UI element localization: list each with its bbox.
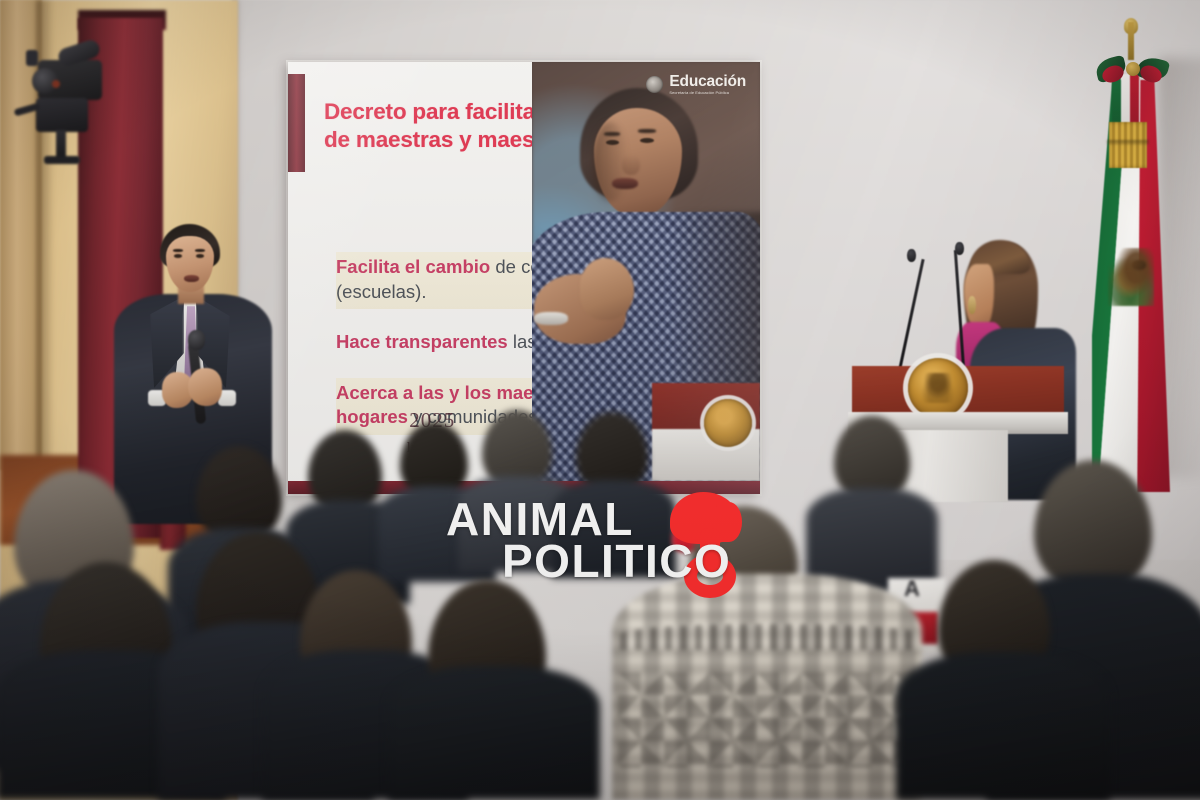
educacion-logo-text: Educación Secretaría de Educación Públic… bbox=[669, 74, 746, 95]
photo-subject-brow-right bbox=[638, 129, 656, 133]
educacion-logo-subtitle: Secretaría de Educación Pública bbox=[669, 91, 746, 95]
audience-body bbox=[896, 652, 1110, 800]
slide-bullet-bold: Facilita el cambio bbox=[336, 256, 490, 277]
slide-bullet-bold: Hace transparentes bbox=[336, 331, 508, 352]
gold-tassel-icon bbox=[1109, 122, 1147, 168]
bow-knot bbox=[1126, 62, 1140, 76]
camera-viewfinder bbox=[26, 50, 38, 66]
presenter-face bbox=[166, 236, 214, 292]
foreground-sign-letter: A bbox=[904, 576, 920, 602]
photo-subject-mouth bbox=[612, 178, 638, 189]
educacion-logo-name: Educación bbox=[669, 74, 746, 90]
presenter-brow-right bbox=[195, 249, 205, 252]
presenter-mouth bbox=[184, 275, 199, 282]
microphone-head-icon bbox=[188, 330, 205, 350]
photo-subject-eye-right bbox=[640, 138, 654, 143]
press-conference-photo: Decreto para facilitar la movilidad de m… bbox=[0, 0, 1200, 800]
mexican-national-seal-icon bbox=[646, 76, 663, 93]
presenter-brow-left bbox=[173, 249, 183, 252]
watermark-word-1: ANIMAL bbox=[446, 498, 731, 540]
animal-politico-wordmark: ANIMAL POLITICO bbox=[446, 498, 731, 583]
camera-tally-light bbox=[52, 80, 60, 88]
audience-body bbox=[388, 666, 600, 800]
knit-sweater-band bbox=[620, 624, 920, 650]
mexican-eagle-icon bbox=[1108, 248, 1154, 306]
animal-politico-watermark: ANIMAL POLITICO bbox=[446, 498, 756, 598]
video-camera-icon bbox=[8, 24, 118, 174]
podium-microphone-head bbox=[955, 242, 964, 255]
presenter-eye-right bbox=[196, 254, 204, 258]
gold-tassel-split bbox=[1107, 140, 1149, 145]
photo-subject-brow-left bbox=[604, 132, 620, 136]
photo-subject-eye-left bbox=[606, 140, 619, 145]
photo-subject-hand bbox=[580, 258, 634, 320]
podium-microphone-head bbox=[907, 249, 916, 262]
watermark-word-2: POLITICO bbox=[446, 540, 731, 582]
camera-head-mount bbox=[36, 98, 88, 132]
podium-microphone-stem bbox=[898, 259, 924, 369]
knit-sweater-zigzag-pattern bbox=[618, 672, 918, 768]
slide-accent-bar bbox=[288, 74, 305, 172]
audience-head bbox=[1034, 460, 1152, 590]
photo-subject-nose bbox=[622, 155, 640, 175]
presenter-eye-left bbox=[174, 254, 182, 258]
flag-pole bbox=[1128, 22, 1134, 60]
educacion-logo: Educación Secretaría de Educación Públic… bbox=[646, 74, 746, 95]
tricolor-ribbon-bow-icon bbox=[1096, 56, 1168, 86]
earring-icon bbox=[968, 296, 976, 314]
photo-subject-bracelet bbox=[534, 312, 568, 325]
tripod-base bbox=[44, 156, 80, 164]
mexican-eagle-beak bbox=[1132, 260, 1146, 270]
